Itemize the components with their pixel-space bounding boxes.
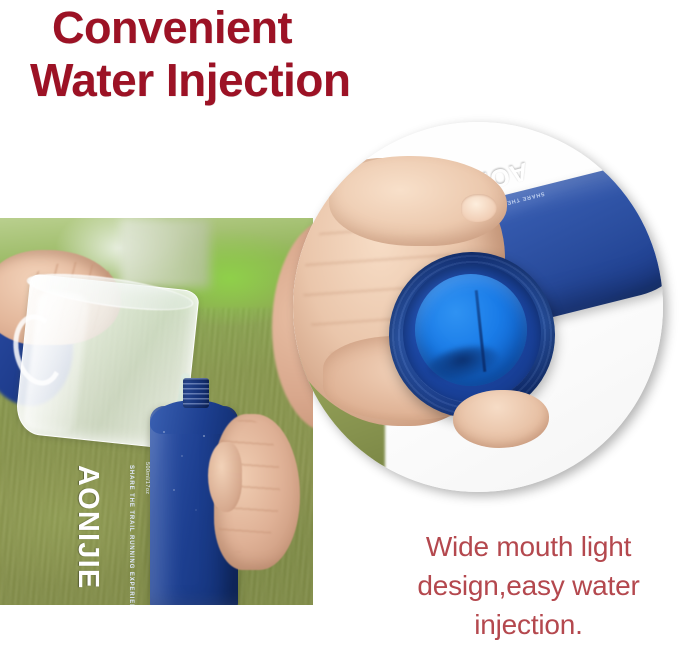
bottle-thread-icon [183,378,209,408]
product-feature-image: Convenient Water Injection AONIJIE SHARE… [0,0,679,654]
bottle-brand-label: AONIJIE [71,465,104,589]
bottle-volume-label: 500ml/17oz [144,462,150,494]
heading-line-1: Convenient [52,2,679,54]
caption-line-3: injection. [378,605,679,644]
holding-hand-thumb [208,442,242,512]
caption-line-2: design,easy water [378,566,679,605]
pouring-water-photo: AONIJIE SHARE THE TRAIL RUNNING EXPERIEN… [0,218,313,605]
blurred-fence [120,218,210,288]
caption-line-1: Wide mouth light [378,527,679,566]
bottle-tagline-label: SHARE THE TRAIL RUNNING EXPERIENCE [128,465,134,605]
feature-caption: Wide mouth light design,easy water injec… [378,527,679,644]
heading-line-2: Water Injection [30,54,679,106]
page-title: Convenient Water Injection [0,2,679,106]
wide-mouth-closeup-photo: AONIJIE SHARE THE TRAIL RUNNING EXPERIEN… [293,122,663,492]
